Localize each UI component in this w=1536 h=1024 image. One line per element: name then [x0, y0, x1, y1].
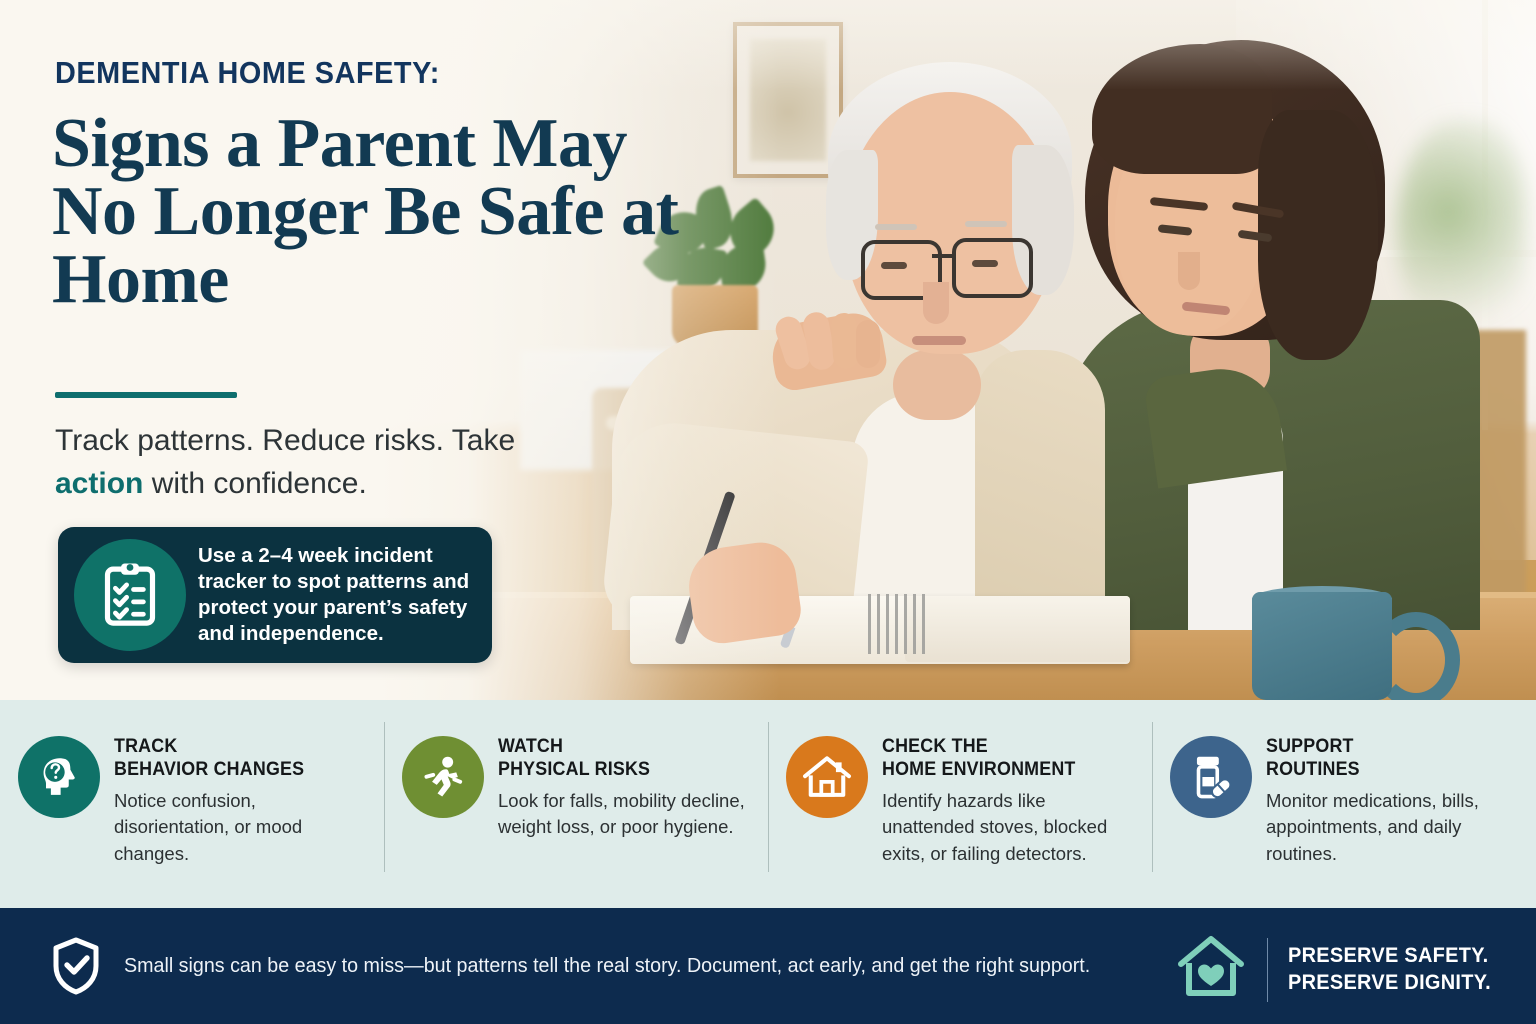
pill-bottle-icon — [1170, 736, 1252, 818]
daughter-hair-side — [1258, 110, 1378, 360]
daughter-nose — [1178, 252, 1200, 290]
senior-nose — [923, 282, 949, 324]
teal-mug — [1252, 592, 1392, 700]
incident-tracker-callout: Use a 2–4 week incident tracker to spot … — [58, 527, 492, 663]
feature-body: WATCH PHYSICAL RISKS Look for falls, mob… — [498, 736, 768, 908]
house-heart-icon — [1175, 932, 1247, 1007]
feature-description: Identify hazards like unattended stoves,… — [882, 788, 1142, 868]
senior-eye-right — [972, 260, 998, 267]
feature-title: TRACK BEHAVIOR CHANGES — [114, 736, 358, 782]
footer-divider — [1267, 938, 1268, 1002]
open-notebook-right-page — [905, 596, 1130, 662]
feature-description: Look for falls, mobility decline, weight… — [498, 788, 758, 842]
feature-body: TRACK BEHAVIOR CHANGES Notice confusion,… — [114, 736, 384, 908]
subtitle-part2: with confidence. — [143, 467, 366, 500]
page-title: Signs a Parent May No Longer Be Safe at … — [52, 110, 692, 314]
subtitle: Track patterns. Reduce risks. Take actio… — [55, 420, 555, 505]
feature-body: CHECK THE HOME ENVIRONMENT Identify haza… — [882, 736, 1152, 908]
feature-description: Notice confusion, disorientation, or moo… — [114, 788, 374, 868]
shield-check-icon — [50, 936, 102, 996]
feature-check-home-environment: CHECK THE HOME ENVIRONMENT Identify haza… — [768, 700, 1152, 908]
subtitle-accent: action — [55, 467, 143, 500]
eyeglasses-right-lens — [952, 238, 1033, 298]
senior-eye-left — [881, 262, 907, 269]
footer-message: Small signs can be easy to miss—but patt… — [124, 954, 1090, 978]
feature-track-behavior-changes: TRACK BEHAVIOR CHANGES Notice confusion,… — [0, 700, 384, 908]
finger-4 — [856, 320, 880, 368]
feature-band: TRACK BEHAVIOR CHANGES Notice confusion,… — [0, 700, 1536, 908]
accent-rule — [55, 392, 237, 398]
running-person-icon — [402, 736, 484, 818]
footer-brand: PRESERVE SAFETY. PRESERVE DIGNITY. — [1175, 932, 1502, 1007]
infographic-canvas: DEMENTIA HOME SAFETY: Signs a Parent May… — [0, 0, 1536, 1024]
senior-cardigan-right — [975, 350, 1105, 625]
brand-tagline: PRESERVE SAFETY. PRESERVE DIGNITY. — [1288, 943, 1491, 997]
feature-title: CHECK THE HOME ENVIRONMENT — [882, 736, 1126, 782]
head-question-mark-icon — [18, 736, 100, 818]
callout-text: Use a 2–4 week incident tracker to spot … — [198, 543, 476, 646]
senior-neck — [893, 350, 981, 420]
senior-eyebrow-right — [965, 221, 1007, 227]
notebook-spiral-binding — [868, 594, 926, 654]
house-icon — [786, 736, 868, 818]
senior-mouth — [912, 336, 966, 345]
feature-title: WATCH PHYSICAL RISKS — [498, 736, 742, 782]
senior-eyebrow-left — [875, 224, 917, 230]
eyebrow-label: DEMENTIA HOME SAFETY: — [55, 55, 440, 91]
footer-bar: Small signs can be easy to miss—but patt… — [0, 908, 1536, 1024]
feature-support-routines: SUPPORT ROUTINES Monitor medications, bi… — [1152, 700, 1536, 908]
eyeglasses-bridge — [932, 254, 954, 258]
feature-body: SUPPORT ROUTINES Monitor medications, bi… — [1266, 736, 1536, 908]
feature-watch-physical-risks: WATCH PHYSICAL RISKS Look for falls, mob… — [384, 700, 768, 908]
clipboard-checklist-icon — [74, 539, 186, 651]
feature-description: Monitor medications, bills, appointments… — [1266, 788, 1526, 868]
feature-title: SUPPORT ROUTINES — [1266, 736, 1510, 782]
subtitle-part1: Track patterns. Reduce risks. Take — [55, 424, 515, 457]
